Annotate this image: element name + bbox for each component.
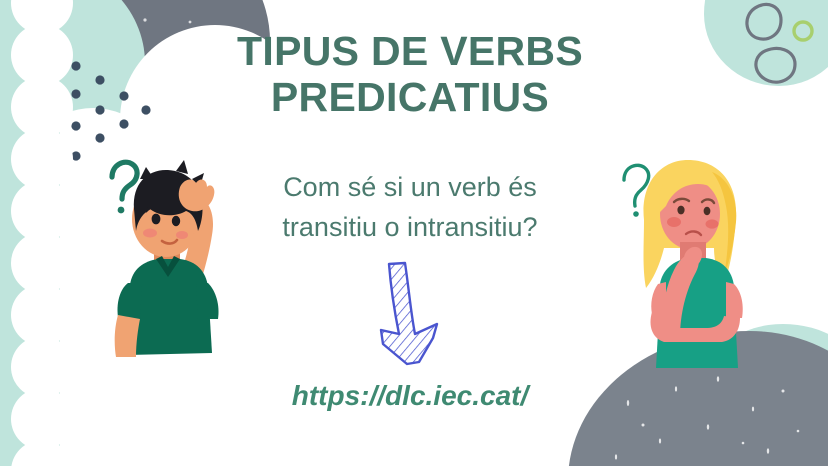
page-title: TIPUS DE VERBS PREDICATIUS bbox=[150, 28, 670, 121]
page-subtitle: Com sé si un verb és transitiu o intrans… bbox=[190, 168, 630, 248]
down-arrow-icon bbox=[363, 258, 463, 370]
top-right-ring-shapes bbox=[733, 0, 828, 95]
boy-question-mark-icon bbox=[112, 162, 137, 213]
left-scallop-edge bbox=[11, 0, 75, 466]
slide-canvas: TIPUS DE VERBS PREDICATIUS Com sé si un … bbox=[0, 0, 828, 466]
subtitle-line-2: transitiu o intransitiu? bbox=[190, 208, 630, 248]
title-line-2: PREDICATIUS bbox=[150, 74, 670, 120]
title-line-1: TIPUS DE VERBS bbox=[150, 28, 670, 74]
reference-url[interactable]: https://dlc.iec.cat/ bbox=[180, 380, 640, 412]
subtitle-line-1: Com sé si un verb és bbox=[190, 168, 630, 208]
